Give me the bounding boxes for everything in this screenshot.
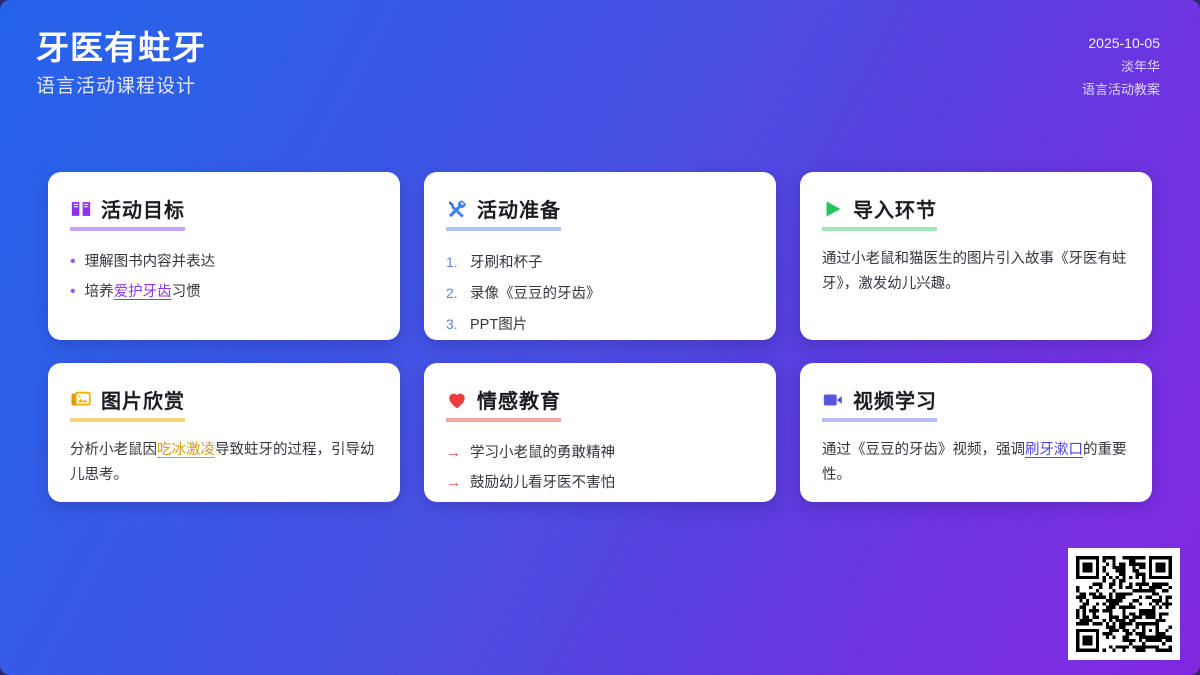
list-number: 3. — [446, 309, 461, 339]
list-item: • 培养爱护牙齿习惯 — [70, 277, 378, 307]
heart-icon — [446, 389, 468, 411]
card-title: 情感教育 — [477, 385, 561, 414]
list-item-text: PPT图片 — [470, 310, 527, 340]
slide-canvas: 牙医有蛀牙 语言活动课程设计 2025-10-05 淡年华 语言活动教案 — [0, 0, 1200, 675]
list-item: 2. 录像《豆豆的牙齿》 — [446, 278, 754, 309]
highlight-term: 吃冰激凌 — [157, 442, 215, 458]
card-emotional-education[interactable]: 情感教育 → 学习小老鼠的勇敢精神 → 鼓励幼儿看牙医不害怕 — [424, 363, 776, 502]
list-item: • 理解图书内容并表达 — [70, 247, 378, 277]
card-header: 导入环节 — [822, 194, 937, 231]
card-title: 图片欣赏 — [101, 385, 185, 414]
list-number: 1. — [446, 247, 461, 277]
card-activity-goals[interactable]: 活动目标 • 理解图书内容并表达 • 培养爱护牙齿习惯 — [48, 172, 400, 340]
arrow-right-icon: → — [446, 438, 461, 468]
list-item: → 学习小老鼠的勇敢精神 — [446, 438, 754, 468]
card-header: 图片欣赏 — [70, 385, 185, 422]
card-header: 活动目标 — [70, 194, 185, 231]
highlight-term: 爱护牙齿 — [114, 284, 172, 300]
meta-date: 2025-10-05 — [1082, 32, 1160, 55]
list-item-text: 录像《豆豆的牙齿》 — [470, 279, 601, 309]
page-subtitle: 语言活动课程设计 — [36, 72, 206, 102]
card-picture-appreciation[interactable]: 图片欣赏 分析小老鼠因吃冰激凌导致蛀牙的过程，引导幼儿思考。 — [48, 363, 400, 502]
preparation-list: 1. 牙刷和杯子 2. 录像《豆豆的牙齿》 3. PPT图片 — [446, 247, 754, 340]
list-item-text: 理解图书内容并表达 — [85, 247, 216, 277]
content-grid: 活动目标 • 理解图书内容并表达 • 培养爱护牙齿习惯 — [48, 172, 1152, 502]
card-title: 导入环节 — [853, 194, 937, 223]
list-item: 1. 牙刷和杯子 — [446, 247, 754, 278]
emotion-list: → 学习小老鼠的勇敢精神 → 鼓励幼儿看牙医不害怕 — [446, 438, 754, 498]
page-title: 牙医有蛀牙 — [36, 27, 206, 69]
bullet-dot-icon: • — [70, 277, 76, 307]
card-header: 视频学习 — [822, 385, 937, 422]
card-title: 视频学习 — [853, 385, 937, 414]
slide-header: 牙医有蛀牙 语言活动课程设计 2025-10-05 淡年华 语言活动教案 — [0, 0, 1200, 150]
card-introduction-stage[interactable]: 导入环节 通过小老鼠和猫医生的图片引入故事《牙医有蛀牙》，激发幼儿兴趣。 — [800, 172, 1152, 340]
card-header: 活动准备 — [446, 194, 561, 231]
title-block: 牙医有蛀牙 语言活动课程设计 — [36, 27, 206, 102]
open-book-icon — [70, 198, 92, 220]
card-paragraph: 分析小老鼠因吃冰激凌导致蛀牙的过程，引导幼儿思考。 — [70, 438, 378, 488]
bullet-dot-icon: • — [70, 247, 76, 277]
list-number: 2. — [446, 278, 461, 308]
card-title: 活动目标 — [101, 194, 185, 223]
card-activity-preparation[interactable]: 活动准备 1. 牙刷和杯子 2. 录像《豆豆的牙齿》 3. PPT图片 — [424, 172, 776, 340]
header-meta: 2025-10-05 淡年华 语言活动教案 — [1082, 32, 1160, 101]
goal-list: • 理解图书内容并表达 • 培养爱护牙齿习惯 — [70, 247, 378, 307]
card-title: 活动准备 — [477, 194, 561, 223]
list-item: → 鼓励幼儿看牙医不害怕 — [446, 468, 754, 498]
arrow-right-icon: → — [446, 468, 461, 498]
card-paragraph: 通过《豆豆的牙齿》视频，强调刷牙漱口的重要性。 — [822, 438, 1130, 488]
list-item-text: 培养爱护牙齿习惯 — [85, 277, 201, 307]
list-item-text: 学习小老鼠的勇敢精神 — [470, 438, 615, 468]
hammer-and-wrench-icon — [446, 198, 468, 220]
card-paragraph: 通过小老鼠和猫医生的图片引入故事《牙医有蛀牙》，激发幼儿兴趣。 — [822, 247, 1130, 297]
highlight-term: 刷牙漱口 — [1025, 442, 1083, 458]
list-item: 3. PPT图片 — [446, 309, 754, 340]
qr-code[interactable] — [1068, 548, 1180, 660]
card-header: 情感教育 — [446, 385, 561, 422]
qr-code-canvas — [1076, 556, 1172, 652]
video-camera-icon — [822, 389, 844, 411]
photo-stack-icon — [70, 389, 92, 411]
card-video-learning[interactable]: 视频学习 通过《豆豆的牙齿》视频，强调刷牙漱口的重要性。 — [800, 363, 1152, 502]
play-triangle-icon — [822, 198, 844, 220]
list-item-text: 牙刷和杯子 — [470, 248, 543, 278]
meta-kind: 语言活动教案 — [1082, 78, 1160, 101]
list-item-text: 鼓励幼儿看牙医不害怕 — [470, 468, 615, 498]
meta-author: 淡年华 — [1082, 55, 1160, 78]
